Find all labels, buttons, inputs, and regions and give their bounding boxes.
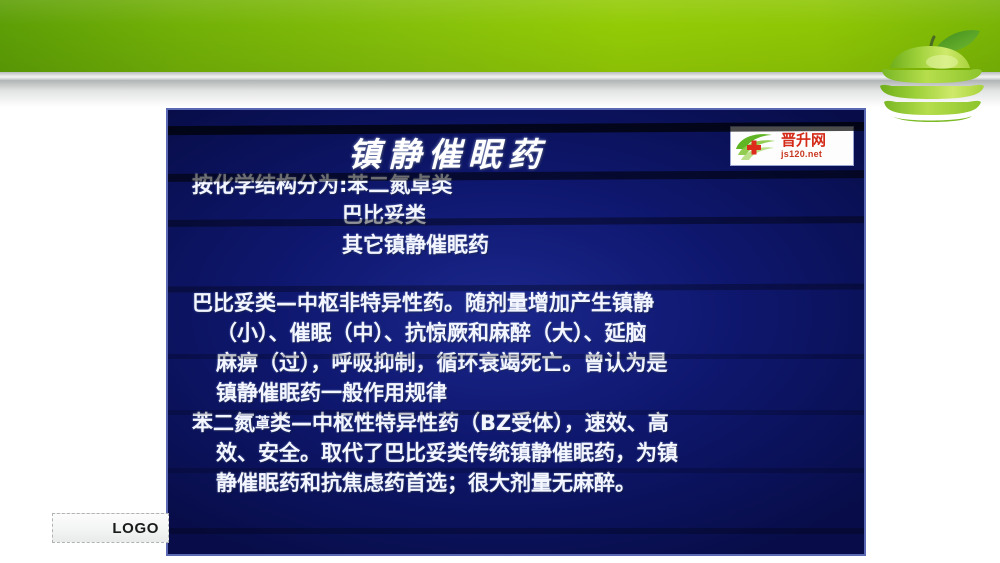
slide-image: 镇静催眠药 晋升网 js120.net (166, 108, 866, 556)
barbiturates-line-0: 巴比妥类—中枢非特异性药。随剂量增加产生镇静 (192, 288, 844, 318)
silver-divider-bar (0, 72, 1000, 81)
logo-placeholder[interactable]: LOGO (52, 513, 169, 543)
jinshengwang-logo-cn: 晋升网 (781, 133, 826, 148)
top-green-banner (0, 0, 1000, 72)
jinshengwang-logo: 晋升网 js120.net (730, 126, 854, 166)
benzodiazepines-line-0-a: 苯二氮 (192, 411, 255, 435)
barbiturates-line-3: 镇静催眠药一般作用规律 (192, 378, 844, 408)
benzodiazepines-line-0: 苯二氮䓬类—中枢性特异性药（BZ受体），速效、高 (192, 408, 844, 438)
logo-placeholder-label: LOGO (112, 520, 159, 537)
barbiturates-line-2: 麻痹（过），呼吸抑制，循环衰竭死亡。曾认为是 (192, 348, 844, 378)
benzodiazepines-paragraph: 苯二氮䓬类—中枢性特异性药（BZ受体），速效、高 效、安全。取代了巴比妥类传统镇… (192, 408, 844, 498)
slide-body-text: 按化学结构分为:苯二氮卓类 巴比妥类 其它镇静催眠药 巴比妥类—中枢非特异性药。… (192, 170, 844, 498)
slide-title: 镇静催眠药 (168, 128, 728, 176)
green-swoosh-red-cross-icon (734, 129, 780, 163)
classification-lead: 按化学结构分为:苯二氮卓类 (192, 170, 844, 200)
barbiturates-line-1: （小）、催眠（中）、抗惊厥和麻醉（大）、延脑 (192, 318, 844, 348)
benzodiazepines-line-0-b: 类—中枢性特异性药（BZ受体），速效、高 (270, 411, 669, 435)
benzodiazepines-line-2: 静催眠药和抗焦虑药首选；很大剂量无麻醉。 (192, 468, 844, 498)
sliced-green-apple-icon (874, 4, 994, 122)
classification-item-1: 其它镇静催眠药 (192, 230, 844, 260)
barbiturates-paragraph: 巴比妥类—中枢非特异性药。随剂量增加产生镇静 （小）、催眠（中）、抗惊厥和麻醉（… (192, 288, 844, 408)
benzodiazepines-line-1: 效、安全。取代了巴比妥类传统镇静催眠药，为镇 (192, 438, 844, 468)
jinshengwang-logo-en: js120.net (781, 150, 826, 159)
divider-shadow (0, 81, 1000, 107)
zhuo-character: 䓬 (255, 416, 270, 431)
banner-shading (0, 0, 1000, 72)
presentation-page: 镇静催眠药 晋升网 js120.net (0, 0, 1000, 563)
classification-item-0: 巴比妥类 (192, 200, 844, 230)
paragraph-spacer (192, 260, 844, 288)
